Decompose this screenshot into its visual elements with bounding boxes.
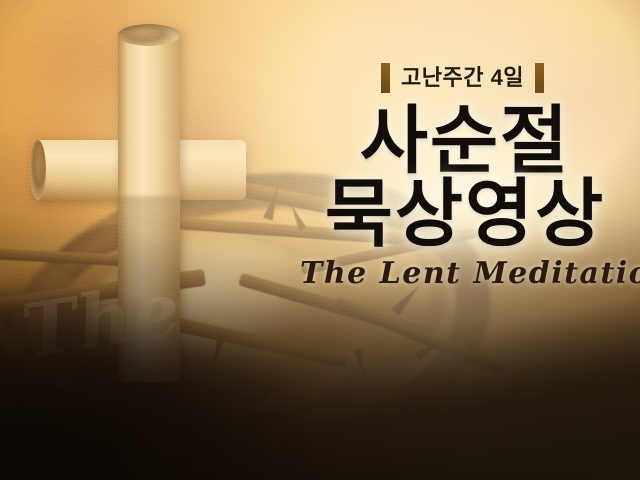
page-title-line-1: 사순절 [300, 106, 630, 177]
cross-upright-post [118, 30, 180, 382]
cross-crossbeam-end-cap [30, 140, 46, 200]
week-badge-label: 고난주간 4일 [401, 67, 524, 89]
week-badge: 고난주간 4일 [381, 63, 544, 93]
cloth-drapery-fold [0, 207, 310, 413]
cloth-drapery-shadow [0, 300, 460, 480]
vertical-bar-icon-right [535, 63, 544, 93]
thorn-spike [263, 185, 283, 220]
vertical-bar-icon-left [381, 63, 390, 93]
title-block: 사순절 묵상영상 The Lent Meditation [300, 106, 630, 291]
thorn-branch [0, 248, 140, 267]
thorn-spike [210, 340, 224, 367]
thorn-branch [0, 269, 206, 316]
watermark-meditation: Meditation [0, 302, 640, 480]
thorn-branch [121, 306, 349, 368]
thorn-branch [334, 297, 505, 376]
page-subtitle: The Lent Meditation [300, 256, 630, 291]
thorn-spike [354, 349, 368, 377]
cross-crossbeam [34, 140, 246, 200]
thorn-spike [415, 337, 444, 360]
watermark-the: The [16, 266, 186, 376]
thorn-spike [161, 323, 184, 354]
page-title-line-2: 묵상영상 [300, 179, 630, 250]
cross-shadow [118, 196, 180, 386]
cross-post-top-opening [118, 24, 180, 46]
thorn-spike [128, 365, 145, 389]
lent-meditation-banner: The Meditation 고난주간 4일 사순절 묵상영상 The Lent… [0, 0, 640, 480]
